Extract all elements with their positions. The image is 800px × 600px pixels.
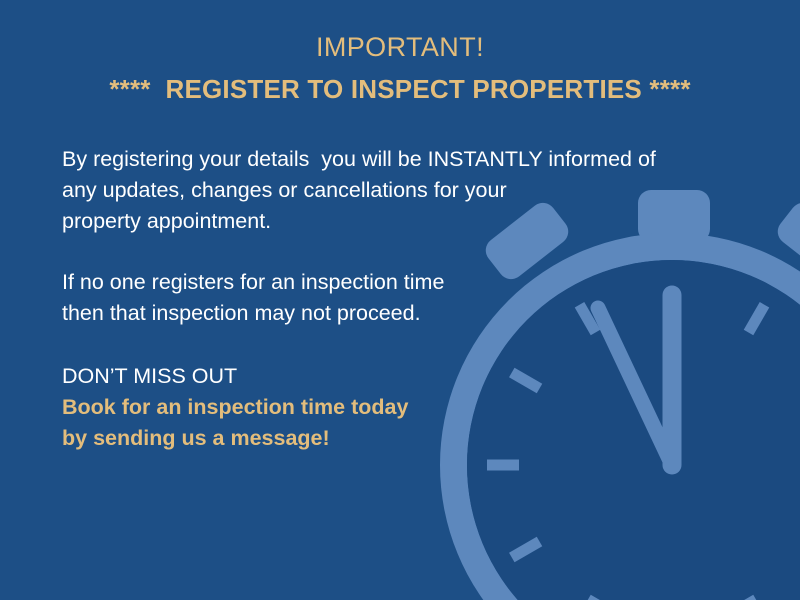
paragraph1-line1: By registering your details you will be … — [62, 144, 722, 175]
paragraph2-line1: If no one registers for an inspection ti… — [62, 267, 722, 298]
paragraph1-line3: property appointment. — [62, 206, 722, 237]
paragraph2-line2: then that inspection may not proceed. — [62, 298, 722, 329]
heading-block: IMPORTANT! **** REGISTER TO INSPECT PROP… — [0, 30, 800, 106]
cta-dont-miss-out: DON’T MISS OUT — [62, 361, 722, 392]
heading-important: IMPORTANT! — [0, 30, 800, 64]
cta-line-send-message: by sending us a message! — [62, 423, 722, 454]
paragraph-spacer-1 — [62, 237, 722, 267]
paragraph1-line2: any updates, changes or cancellations fo… — [62, 175, 722, 206]
cta-booking-message: Book for an inspection time today by sen… — [62, 392, 722, 454]
paragraph-spacer-2 — [62, 329, 722, 361]
slide-canvas: IMPORTANT! **** REGISTER TO INSPECT PROP… — [0, 0, 800, 600]
stopwatch-side-button-right-icon — [773, 198, 800, 285]
body-block: By registering your details you will be … — [62, 144, 722, 454]
cta-line-book-today: Book for an inspection time today — [62, 392, 722, 423]
heading-register-to-inspect: **** REGISTER TO INSPECT PROPERTIES **** — [0, 72, 800, 106]
paragraph-no-registration-warning: If no one registers for an inspection ti… — [62, 267, 722, 329]
paragraph-registering-details: By registering your details you will be … — [62, 144, 722, 237]
